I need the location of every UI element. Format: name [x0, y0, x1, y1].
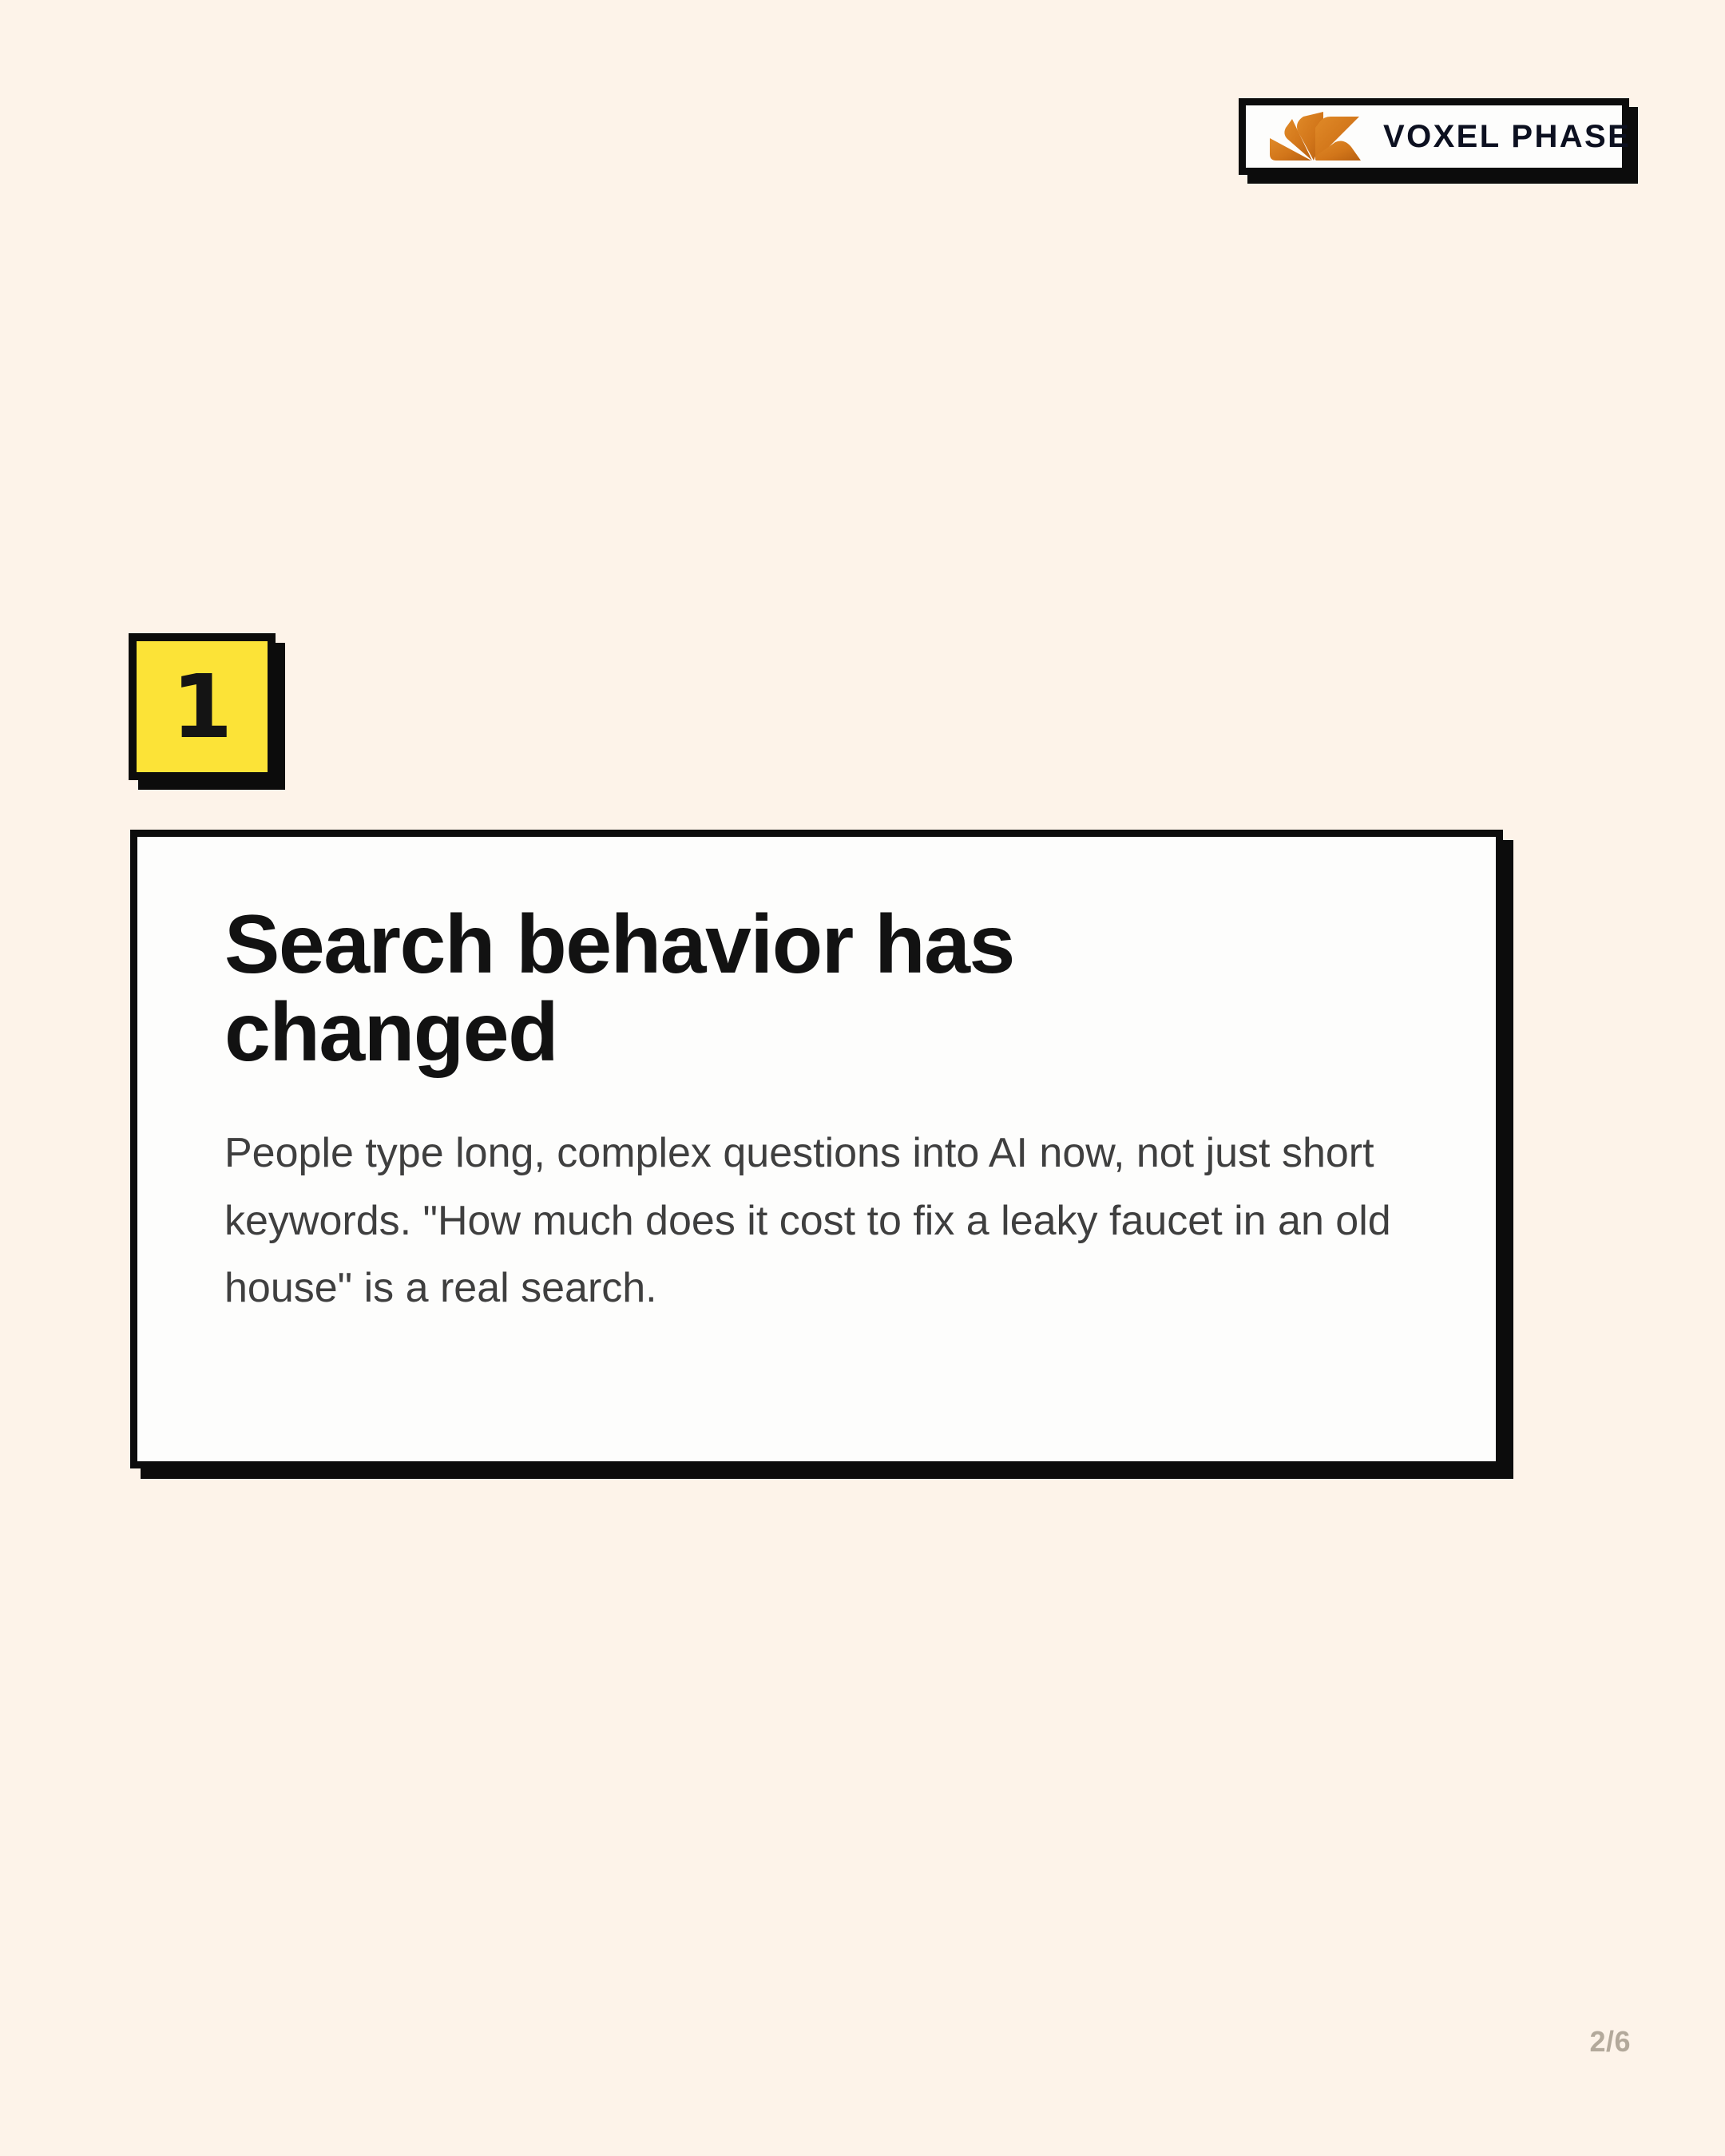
- brand-name: VOXEL PHASE: [1383, 121, 1631, 153]
- brand-badge: VOXEL PHASE: [1239, 98, 1629, 175]
- step-number-label: 1: [172, 663, 233, 751]
- page-indicator: 2/6: [1589, 2025, 1631, 2059]
- card-heading: Search behavior has changed: [224, 901, 1167, 1076]
- leaf-fan-logo-icon: [1268, 112, 1361, 161]
- card-body-text: People type long, complex questions into…: [224, 1120, 1420, 1322]
- step-number-badge: 1: [129, 633, 276, 780]
- content-card: Search behavior has changed People type …: [130, 830, 1503, 1468]
